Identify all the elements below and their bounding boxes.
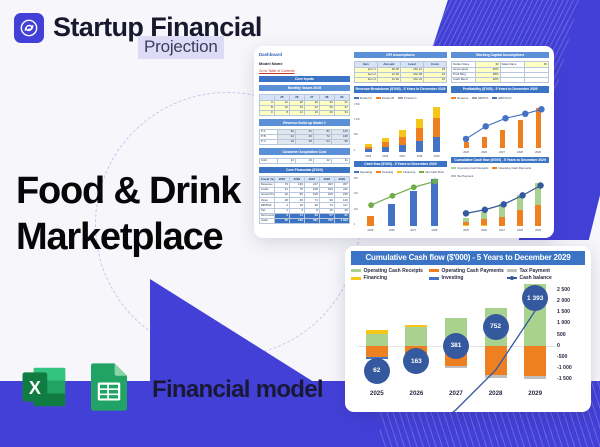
panel-header-cashflow: Cash flow ($'000) - 5 Years to December … [354, 161, 447, 167]
profitability-chart: 2025 2026 2027 2028 2029 [451, 103, 549, 154]
legend-item-operating-cash-receipts: Operating Cash Receipts [351, 268, 429, 274]
revenue-chart-bars [360, 103, 445, 152]
panel-header-revenue-breakdown: Revenue Breakdown ($'000) - 5 Years to D… [354, 86, 447, 92]
panel-header-core-inputs: Core Inputs [259, 76, 350, 82]
legend-swatch-receipts [351, 269, 361, 272]
page-title: Food & Drink Marketplace [16, 168, 240, 261]
y-tick-0: 2 500 [557, 287, 585, 293]
cashflow-chart-y-axis: 6004002000 [354, 177, 358, 226]
chart-y-axis-labels: 2 500 2 000 1 500 1 000 500 0 -500 -1 00… [557, 287, 585, 382]
chart-legend: Operating Cash Receipts Operating Cash P… [351, 268, 585, 282]
profitability-x-axis: 2025 2026 2027 2028 2029 [457, 151, 547, 154]
y-tick-1: 2 000 [557, 298, 585, 304]
cashflow-chart-x-axis: 2025 2026 2027 2028 [360, 229, 445, 232]
dashboard-column-right: Working Capital Assumptions Debtor Days3… [451, 52, 549, 232]
dashboard-column-left: Dashboard Model Name Go to Table of Cont… [259, 52, 350, 232]
data-label-2025: 62 [364, 358, 390, 384]
panel-header-kpi: KPI Assumptions [354, 52, 447, 58]
revenue-breakdown-legend: Product A Product B Product C [354, 96, 447, 100]
legend-swatch-payments [429, 269, 439, 272]
data-label-2026: 163 [403, 348, 429, 374]
headline-line-1: Food & Drink [16, 168, 240, 214]
data-label-2029: 1 393 [522, 285, 548, 311]
legend-swatch-financing [351, 277, 361, 280]
y-tick-7: -1 000 [557, 365, 585, 371]
footer-row: X Financial model [18, 360, 323, 419]
legend-item-operating-cash-payments: Operating Cash Payments [429, 268, 507, 274]
google-sheets-icon [84, 360, 134, 419]
assumptions-table: 2526272829 A1218253341 B1016222937 C8141… [259, 94, 350, 116]
working-capital-table: Debtor Days30Sales Days45 Gross gbps45% … [451, 61, 549, 83]
legend-swatch-investing [429, 277, 439, 280]
swirl-e-icon [14, 13, 44, 43]
legend-swatch-tax [507, 269, 517, 272]
chart-title: Cumulative Cash flow ($'000) - 5 Years t… [351, 251, 585, 265]
core-financials-table: Fiscal Year20252026202720282029 Revenue7… [259, 176, 350, 224]
revenue-build-table: P A305281120 P B244672108 P C19386495 [259, 129, 350, 146]
revenue-breakdown-chart: 1 5001 0005000 2025 2026 2027 2028 2029 [354, 103, 447, 158]
profitability-legend: Revenue EBITDA EBITDA % [451, 96, 549, 100]
profitability-bars [457, 103, 547, 148]
panel-header-profitability: Profitability ($'000) - 5 Years to Decem… [451, 86, 549, 92]
dashboard-subtitle: Model Name [259, 61, 350, 66]
cumulative-mini-bars [457, 181, 547, 226]
cashflow-legend: Operating Investing Financing Net Cash F… [354, 170, 447, 174]
svg-text:X: X [29, 378, 41, 398]
y-tick-4: 500 [557, 332, 585, 338]
panel-header-working-capital: Working Capital Assumptions [451, 52, 549, 58]
panel-header-monthly: Monthly Values 2025 [259, 85, 350, 91]
cumulative-mini-chart: 2025 2026 2027 2028 2029 [451, 181, 549, 232]
kpi-table: ItemAmountLevelCosts Item 130.00Mix 1218… [354, 61, 447, 83]
brand-subtitle: Projection [138, 36, 224, 59]
cumulative-cashflow-chart-card[interactable]: Cumulative Cash flow ($'000) - 5 Years t… [345, 246, 591, 412]
cashflow-chart-bars [360, 177, 445, 226]
panel-header-cac: Customer Acquisition Cost [259, 148, 350, 154]
dashboard-column-middle: KPI Assumptions ItemAmountLevelCosts Ite… [354, 52, 447, 232]
panel-header-cumulative-cashflow: Cumulative Cash flow ($'000) - 5 Years t… [451, 157, 549, 163]
dashboard-preview-card[interactable]: Dashboard Model Name Go to Table of Cont… [254, 46, 554, 238]
data-label-2027: 381 [443, 333, 469, 359]
data-label-2028: 752 [483, 314, 509, 340]
cashflow-chart: 6004002000 2025 2026 [354, 177, 447, 232]
dashboard-title: Dashboard [259, 52, 350, 58]
brand-subtitle-wrap: Projection [138, 36, 224, 59]
chart-plot-inner: 62 163 381 752 1 393 [357, 287, 555, 382]
y-tick-8: -1 500 [557, 376, 585, 382]
y-tick-3: 1 000 [557, 320, 585, 326]
legend-swatch-cash-balance [507, 277, 517, 279]
cumulative-legend: Operating Cash Receipts Operating Cash P… [451, 166, 549, 178]
legend-item-financing: Financing [351, 275, 429, 281]
y-tick-6: -500 [557, 354, 585, 360]
legend-item-cash-balance: Cash balance [507, 275, 585, 281]
y-tick-2: 1 500 [557, 309, 585, 315]
panel-header-core-financials: Core Financials ($'000) [259, 167, 350, 173]
cumulative-mini-x-axis: 2025 2026 2027 2028 2029 [457, 229, 547, 232]
legend-item-tax-payment: Tax Payment [507, 268, 585, 274]
dashboard-toc-link[interactable]: Go to Table of Contents [259, 69, 350, 73]
footer-label: Financial model [152, 376, 323, 404]
y-tick-5: 0 [557, 343, 585, 349]
microsoft-excel-icon: X [18, 360, 72, 419]
panel-header-revenue-build: Revenue Build-up Model 2 [259, 119, 350, 125]
cac-table: CAC14131211 [259, 158, 350, 164]
legend-item-investing: Investing [429, 275, 507, 281]
chart-plot-area: 62 163 381 752 1 393 2 500 2 000 1 500 1… [351, 285, 585, 397]
revenue-chart-x-axis: 2025 2026 2027 2028 2029 [360, 155, 445, 158]
headline-line-2: Marketplace [16, 214, 240, 260]
